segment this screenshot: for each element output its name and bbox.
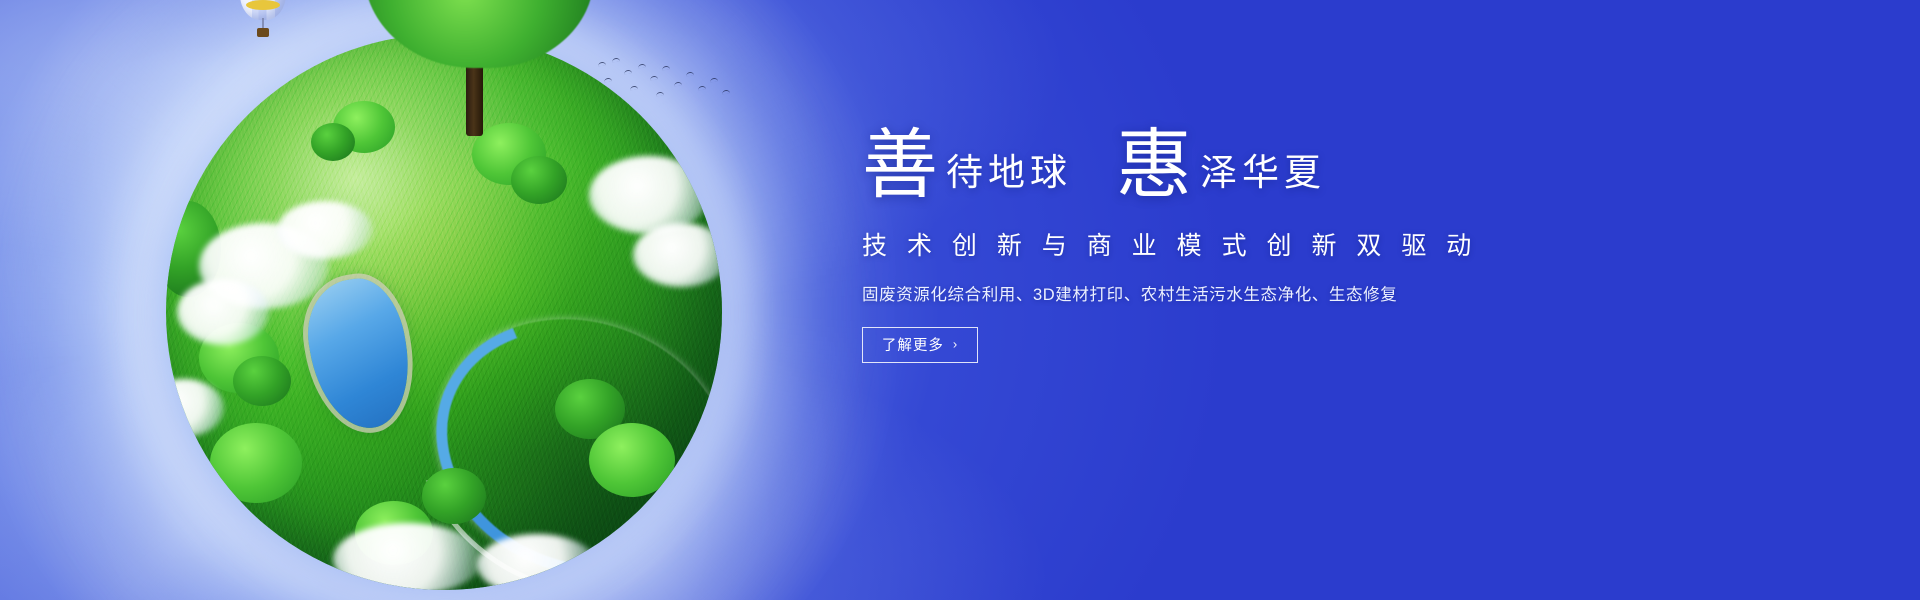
hero-content: 善 待地球 惠 泽华夏 技 术 创 新 与 商 业 模 式 创 新 双 驱 动 … bbox=[862, 132, 1562, 363]
bird-icon bbox=[598, 62, 606, 67]
bird-icon bbox=[612, 58, 620, 63]
cloud-puff bbox=[589, 156, 709, 234]
learn-more-label: 了解更多 bbox=[882, 334, 944, 355]
bird-icon bbox=[662, 66, 670, 71]
headline-char-large: 惠 bbox=[1116, 132, 1192, 202]
headline-text-small: 待地球 bbox=[946, 155, 1072, 202]
globe-artwork bbox=[64, 0, 804, 600]
bird-icon bbox=[710, 78, 718, 83]
tree-cluster bbox=[233, 356, 291, 406]
learn-more-button[interactable]: 了解更多 › bbox=[862, 327, 978, 363]
headline-phrase-1: 善 待地球 bbox=[862, 132, 1072, 202]
tree-cluster bbox=[311, 123, 355, 161]
bird-icon bbox=[604, 78, 612, 83]
tree-cluster bbox=[422, 468, 486, 524]
cloud-puff bbox=[277, 201, 373, 259]
birds-flock bbox=[594, 56, 734, 102]
headline-phrase-2: 惠 泽华夏 bbox=[1116, 132, 1326, 202]
hot-air-balloon-icon bbox=[240, 0, 286, 48]
green-planet-sphere bbox=[166, 34, 722, 590]
description: 固废资源化综合利用、3D建材打印、农村生活污水生态净化、生态修复 bbox=[862, 281, 1562, 305]
subtitle: 技 术 创 新 与 商 业 模 式 创 新 双 驱 动 bbox=[862, 226, 1562, 262]
cloud-puff bbox=[477, 534, 597, 590]
hero-banner: 善 待地球 惠 泽华夏 技 术 创 新 与 商 业 模 式 创 新 双 驱 动 … bbox=[0, 0, 1920, 600]
balloon-stripe bbox=[246, 0, 280, 10]
bird-icon bbox=[674, 82, 682, 87]
headline-text-small: 泽华夏 bbox=[1200, 155, 1326, 202]
tree-cluster bbox=[511, 156, 567, 204]
headline-char-large: 善 bbox=[862, 132, 938, 202]
tree-cluster bbox=[589, 423, 675, 497]
bird-icon bbox=[722, 90, 730, 95]
bird-icon bbox=[686, 72, 694, 77]
headline: 善 待地球 惠 泽华夏 bbox=[862, 132, 1562, 202]
bird-icon bbox=[656, 92, 664, 97]
bird-icon bbox=[624, 70, 632, 75]
cloud-puff bbox=[177, 279, 269, 345]
bird-icon bbox=[650, 76, 658, 81]
bird-icon bbox=[630, 86, 638, 91]
cloud-puff bbox=[633, 223, 722, 287]
tree-canopy bbox=[364, 0, 594, 68]
chevron-right-icon: › bbox=[953, 338, 958, 351]
balloon-basket bbox=[257, 28, 269, 37]
bird-icon bbox=[698, 86, 706, 91]
cloud-puff bbox=[333, 523, 483, 590]
hero-tree bbox=[364, 0, 594, 68]
bird-icon bbox=[638, 64, 646, 69]
